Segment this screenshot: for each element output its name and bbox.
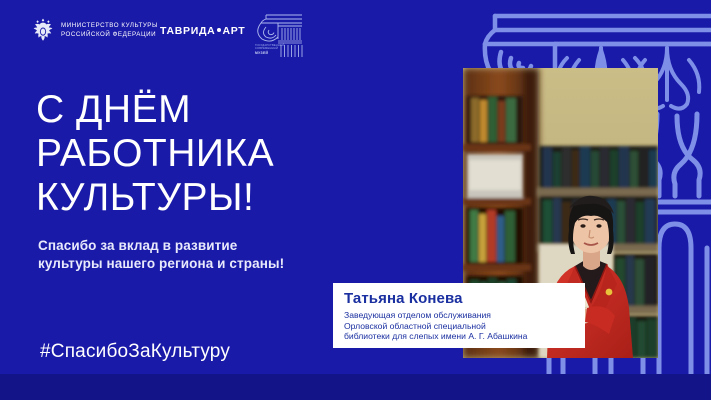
ministry-logo-text: МИНИСТЕРСТВО КУЛЬТУРЫ РОССИЙСКОЙ ФЕДЕРАЦ…: [61, 22, 158, 39]
subtitle: Спасибо за вклад в развитие культуры наш…: [38, 237, 358, 273]
ministry-of-culture-logo: МИНИСТЕРСТВО КУЛЬТУРЫ РОССИЙСКОЙ ФЕДЕРАЦ…: [32, 17, 158, 43]
speaker-role-line-2: Орловской областной специальной: [344, 321, 576, 332]
headline-line-3: КУЛЬТУРЫ!: [36, 176, 366, 220]
tavrida-logo-text-right: АРТ: [222, 25, 245, 37]
ministry-logo-line2: РОССИЙСКОЙ ФЕДЕРАЦИИ: [61, 31, 158, 39]
russian-coat-of-arms-eagle-icon: [32, 17, 54, 43]
headline-line-1: С ДНЁМ: [36, 88, 366, 132]
bottom-strip: [0, 374, 711, 400]
tavrida-art-logo: ТАВРИДА АРТ: [160, 25, 245, 37]
logo-header: МИНИСТЕРСТВО КУЛЬТУРЫ РОССИЙСКОЙ ФЕДЕРАЦ…: [0, 0, 711, 68]
speaker-name: Татьяна Конева: [344, 289, 576, 308]
ministry-logo-line1: МИНИСТЕРСТВО КУЛЬТУРЫ: [61, 22, 158, 30]
tavrida-logo-text-left: ТАВРИДА: [160, 25, 215, 37]
subtitle-line-1: Спасибо за вклад в развитие: [38, 237, 358, 255]
poster-canvas: МИНИСТЕРСТВО КУЛЬТУРЫ РОССИЙСКОЙ ФЕДЕРАЦ…: [0, 0, 711, 400]
column-mark-caption: ГОСУДАРСТВЕННЫЙ СОВРЕМЕННЫЙ МУЗЕЙ: [255, 44, 301, 55]
speaker-role-line-3: библиотеки для слепых имени А. Г. Абашки…: [344, 331, 576, 342]
column-mark-caption-line3: МУЗЕЙ: [255, 51, 301, 55]
page-title: С ДНЁМ РАБОТНИКА КУЛЬТУРЫ!: [36, 88, 366, 220]
subtitle-line-2: культуры нашего региона и страны!: [38, 255, 358, 273]
headline-line-2: РАБОТНИКА: [36, 132, 366, 176]
speaker-name-card: Татьяна Конева Заведующая отделом обслуж…: [333, 283, 585, 348]
hashtag: #СпасибоЗаКультуру: [40, 340, 230, 364]
tavrida-logo-dot-icon: [217, 28, 221, 32]
speaker-role-line-1: Заведующая отделом обслуживания: [344, 310, 576, 321]
